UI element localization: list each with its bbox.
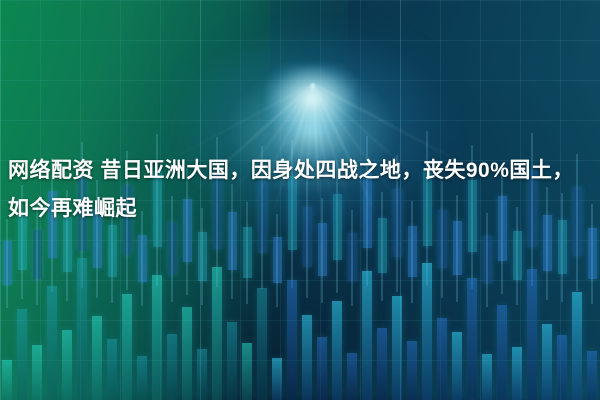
image-canvas: 网络配资 昔日亚洲大国，因身处四战之地，丧失90%国土，如今再难崛起 <box>0 0 600 400</box>
headline-caption: 网络配资 昔日亚洲大国，因身处四战之地，丧失90%国土，如今再难崛起 <box>0 152 600 228</box>
